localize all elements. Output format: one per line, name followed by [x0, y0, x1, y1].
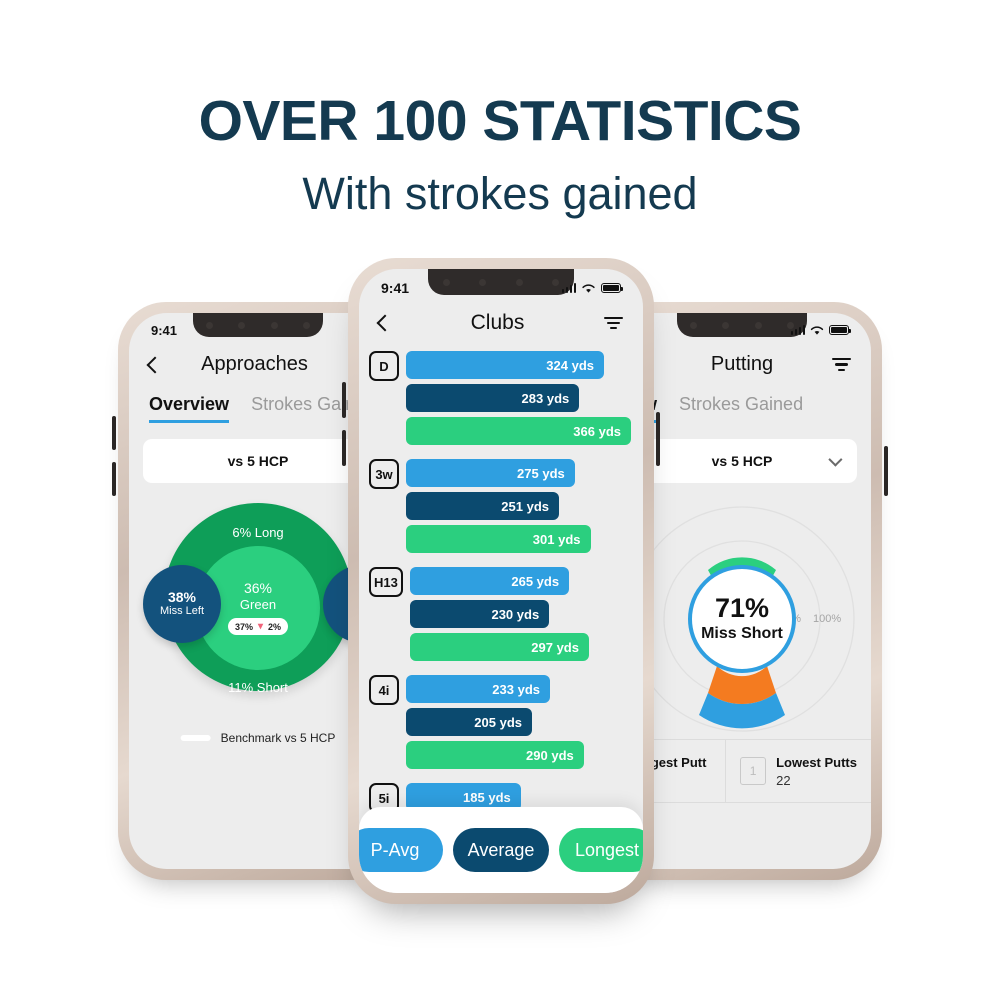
legend-text: Benchmark vs 5 HCP [221, 731, 336, 745]
chevron-down-icon: ▾ [258, 621, 263, 632]
phone-center-screen: 9:41 Clubs D [359, 269, 643, 893]
status-bar: 9:41 [359, 269, 643, 307]
filter-icon[interactable] [832, 358, 851, 371]
club-tag: 3w [369, 459, 399, 489]
legend-swatch [181, 735, 211, 741]
short-label: 11% Short [228, 680, 288, 695]
club-tag: 4i [369, 675, 399, 705]
green-pct: 36% [244, 581, 272, 596]
bar-average: 251 yds [406, 492, 559, 520]
hcp-select-value: vs 5 HCP [228, 453, 289, 469]
pill-right-value: 2% [268, 622, 281, 632]
nav-bar: Clubs [359, 307, 643, 337]
club-tag: H13 [369, 567, 403, 597]
bar-average: 205 yds [406, 708, 532, 736]
chevron-left-icon[interactable] [147, 356, 164, 373]
putting-center-stat: 71% Miss Short [688, 565, 796, 673]
bar-longest: 297 yds [410, 633, 589, 661]
putting-center-pct: 71% [715, 595, 769, 622]
hcp-select-value: vs 5 HCP [712, 453, 773, 469]
miss-left-circle: 38% Miss Left [143, 565, 221, 643]
status-time: 9:41 [151, 323, 177, 338]
benchmark-pill: 37% ▾ 2% [228, 618, 288, 635]
filter-icon[interactable] [604, 317, 623, 330]
chevron-down-icon [828, 453, 842, 467]
bar-p-avg: 233 yds [406, 675, 550, 703]
miss-left-label: Miss Left [160, 605, 204, 618]
bar-longest: 366 yds [406, 417, 631, 445]
nav-title: Approaches [201, 353, 308, 376]
hcp-select[interactable]: vs 5 HCP [143, 439, 373, 483]
long-label: 6% Long [232, 525, 283, 540]
bar-p-avg: 275 yds [406, 459, 575, 487]
ring-label-100: 100% [813, 613, 841, 625]
tab-strokes-gained[interactable]: Strokes Gained [679, 394, 803, 423]
series-legend-card: P-Avg Average Longest [359, 807, 643, 893]
chip-p-avg[interactable]: P-Avg [359, 828, 443, 872]
stat-label: Lowest Putts [776, 755, 857, 770]
nav-title: Putting [711, 353, 773, 376]
hcp-select[interactable]: vs 5 HCP [627, 439, 857, 483]
poster-canvas: OVER 100 STATISTICS With strokes gained … [0, 0, 1000, 1000]
tab-overview[interactable]: Overview [149, 394, 229, 423]
club-row[interactable]: H13 265 yds 230 yds 297 yds [369, 567, 631, 661]
page-subtitle: With strokes gained [0, 168, 1000, 220]
scorecard-icon: 1 [740, 757, 766, 785]
miss-left-value: 38% [168, 589, 196, 605]
bar-p-avg: 324 yds [406, 351, 604, 379]
battery-icon [829, 325, 849, 335]
green-label: Green [240, 597, 276, 613]
wifi-icon [810, 325, 824, 336]
pill-left-value: 37% [235, 622, 253, 632]
club-tag: D [369, 351, 399, 381]
club-row[interactable]: D 324 yds 283 yds 366 yds [369, 351, 631, 445]
page-title: OVER 100 STATISTICS [0, 92, 1000, 152]
status-time: 9:41 [381, 280, 409, 296]
signal-icon [791, 325, 806, 335]
battery-icon [601, 283, 621, 293]
club-row[interactable]: 4i 233 yds 205 yds 290 yds [369, 675, 631, 769]
stat-lowest-putts: 1 Lowest Putts 22 [725, 740, 871, 802]
benchmark-legend: Benchmark vs 5 HCP [181, 731, 336, 745]
wifi-icon [581, 283, 596, 294]
clubs-list: D 324 yds 283 yds 366 yds 3w 275 yds 251… [359, 337, 643, 844]
stat-value: 22 [776, 773, 857, 788]
bar-average: 283 yds [406, 384, 579, 412]
nav-title: Clubs [471, 311, 525, 335]
phone-center: 9:41 Clubs D [352, 262, 650, 900]
signal-icon [562, 283, 577, 293]
bar-average: 230 yds [410, 600, 549, 628]
putting-center-label: Miss Short [701, 625, 783, 643]
chip-longest[interactable]: Longest [559, 828, 643, 872]
club-row[interactable]: 3w 275 yds 251 yds 301 yds [369, 459, 631, 553]
chevron-left-icon[interactable] [377, 315, 394, 332]
bar-longest: 290 yds [406, 741, 584, 769]
bar-longest: 301 yds [406, 525, 591, 553]
bar-p-avg: 265 yds [410, 567, 569, 595]
chip-average[interactable]: Average [453, 828, 549, 872]
